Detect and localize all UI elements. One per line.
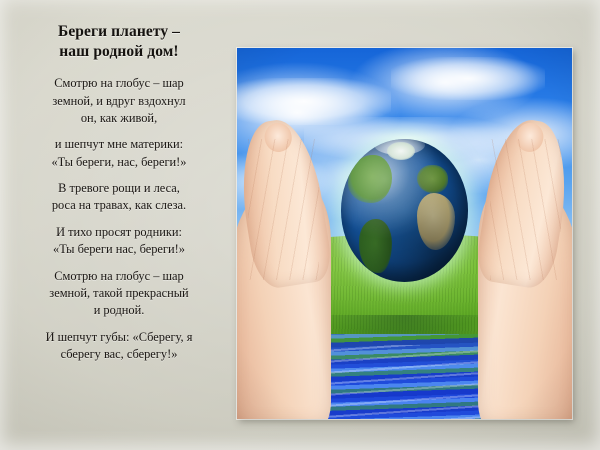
poem-line: В тревоге рощи и леса,	[12, 180, 226, 197]
poem-line: «Ты береги нас, береги!»	[12, 241, 226, 258]
poem-line: роса на травах, как слеза.	[12, 197, 226, 214]
poem-line: и родной.	[12, 302, 226, 319]
right-finger-creases	[490, 139, 560, 279]
poem-line: «Ты береги, нас, береги!»	[12, 154, 226, 171]
poem-line: И шепчут губы: «Сберегу, я	[12, 329, 226, 346]
poem-stanza: и шепчут мне материки: «Ты береги, нас, …	[12, 136, 226, 171]
poem-line: Смотрю на глобус – шар	[12, 268, 226, 285]
poem-stanza: И шепчут губы: «Сберегу, я сберегу вас, …	[12, 329, 226, 364]
poem-line: и шепчут мне материки:	[12, 136, 226, 153]
page-title: Береги планету – наш родной дом!	[12, 22, 226, 62]
poster-canvas: Береги планету – наш родной дом! Смотрю …	[0, 0, 600, 450]
left-hand	[237, 107, 331, 419]
poem-text-column: Береги планету – наш родной дом! Смотрю …	[0, 0, 236, 450]
left-finger-creases	[248, 139, 318, 279]
poem-line: И тихо просят родники:	[12, 224, 226, 241]
cloud-shape	[391, 57, 545, 100]
page-title-line-2: наш родной дом!	[12, 42, 226, 62]
poem-stanza: Смотрю на глобус – шар земной, и вдруг в…	[12, 75, 226, 127]
earth-in-hands-photo	[237, 48, 572, 419]
right-hand	[478, 107, 572, 419]
poem-stanza: В тревоге рощи и леса, роса на травах, к…	[12, 180, 226, 215]
poem-line: Смотрю на глобус – шар	[12, 75, 226, 92]
poem-stanza: И тихо просят родники: «Ты береги нас, б…	[12, 224, 226, 259]
page-title-line-1: Береги планету –	[12, 22, 226, 42]
poem-stanza: Смотрю на глобус – шар земной, такой пре…	[12, 268, 226, 320]
earth-globe	[341, 139, 468, 282]
poem-line: он, как живой,	[12, 110, 226, 127]
poem-line: земной, и вдруг вздохнул	[12, 93, 226, 110]
poem-line: земной, такой прекрасный	[12, 285, 226, 302]
poem-line: сберегу вас, сберегу!»	[12, 346, 226, 363]
globe-shading	[341, 139, 468, 282]
